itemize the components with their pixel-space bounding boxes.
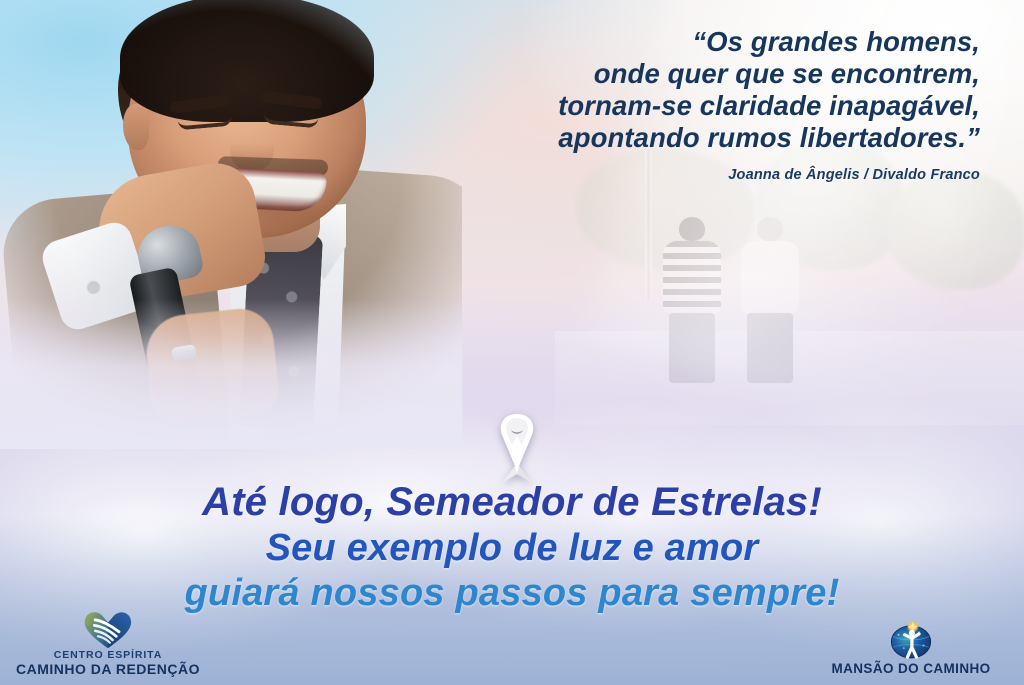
quote-line-2: onde quer que se encontrem, [420,58,980,90]
logo-mansao-do-caminho: MANSÃO DO CAMINHO [806,621,1016,677]
white-awareness-ribbon-icon [482,408,552,486]
poster-canvas: “Os grandes homens, onde quer que se enc… [0,0,1024,685]
headline-line-3: guiará nossos passos para sempre! [0,574,1024,612]
quote-line-3: tornam-se claridade inapagável, [420,90,980,122]
logo-left-line-2: CAMINHO DA REDENÇÃO [8,661,208,677]
quote-author: Joanna de Ângelis / Divaldo Franco [420,167,980,183]
quote-line-1: “Os grandes homens, [420,26,980,58]
portrait-smiling-man-with-microphone [0,0,462,449]
quote-block: “Os grandes homens, onde quer que se enc… [420,26,980,183]
logo-right-line-2: MANSÃO DO CAMINHO [806,661,1016,677]
headline-line-2: Seu exemplo de luz e amor [0,529,1024,567]
globe-figure-star-logo-icon [806,621,1016,661]
quote-line-4: apontando rumos libertadores.” [420,122,980,154]
headline-block: Até logo, Semeador de Estrelas! Seu exem… [0,482,1024,612]
heart-hands-logo-icon [8,609,208,649]
hair-shape [120,0,374,122]
logo-left-line-1: CENTRO ESPÍRITA [8,649,208,661]
headline-line-1: Até logo, Semeador de Estrelas! [0,482,1024,522]
logo-centro-espirita-caminho-da-redencao: CENTRO ESPÍRITA CAMINHO DA REDENÇÃO [8,609,208,677]
